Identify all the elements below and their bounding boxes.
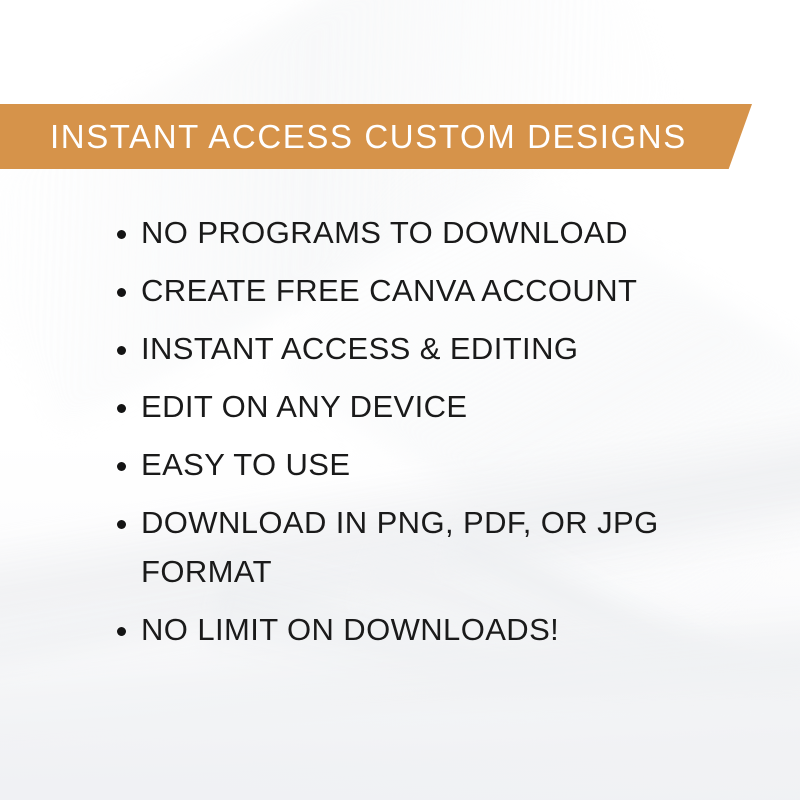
list-item: NO PROGRAMS TO DOWNLOAD [110,208,710,257]
wave-stripe [0,680,800,800]
banner-title: INSTANT ACCESS CUSTOM DESIGNS [50,120,687,153]
list-item: NO LIMIT ON DOWNLOADS! [110,605,710,654]
header-banner: INSTANT ACCESS CUSTOM DESIGNS [0,104,752,169]
list-item: EDIT ON ANY DEVICE [110,382,710,431]
list-item: CREATE FREE CANVA ACCOUNT [110,266,710,315]
list-item: EASY TO USE [110,440,710,489]
feature-list: NO PROGRAMS TO DOWNLOAD CREATE FREE CANV… [110,208,710,663]
list-item: DOWNLOAD IN PNG, PDF, OR JPG FORMAT [110,498,706,596]
list-item: INSTANT ACCESS & EDITING [110,324,710,373]
promo-graphic: INSTANT ACCESS CUSTOM DESIGNS NO PROGRAM… [0,0,800,800]
